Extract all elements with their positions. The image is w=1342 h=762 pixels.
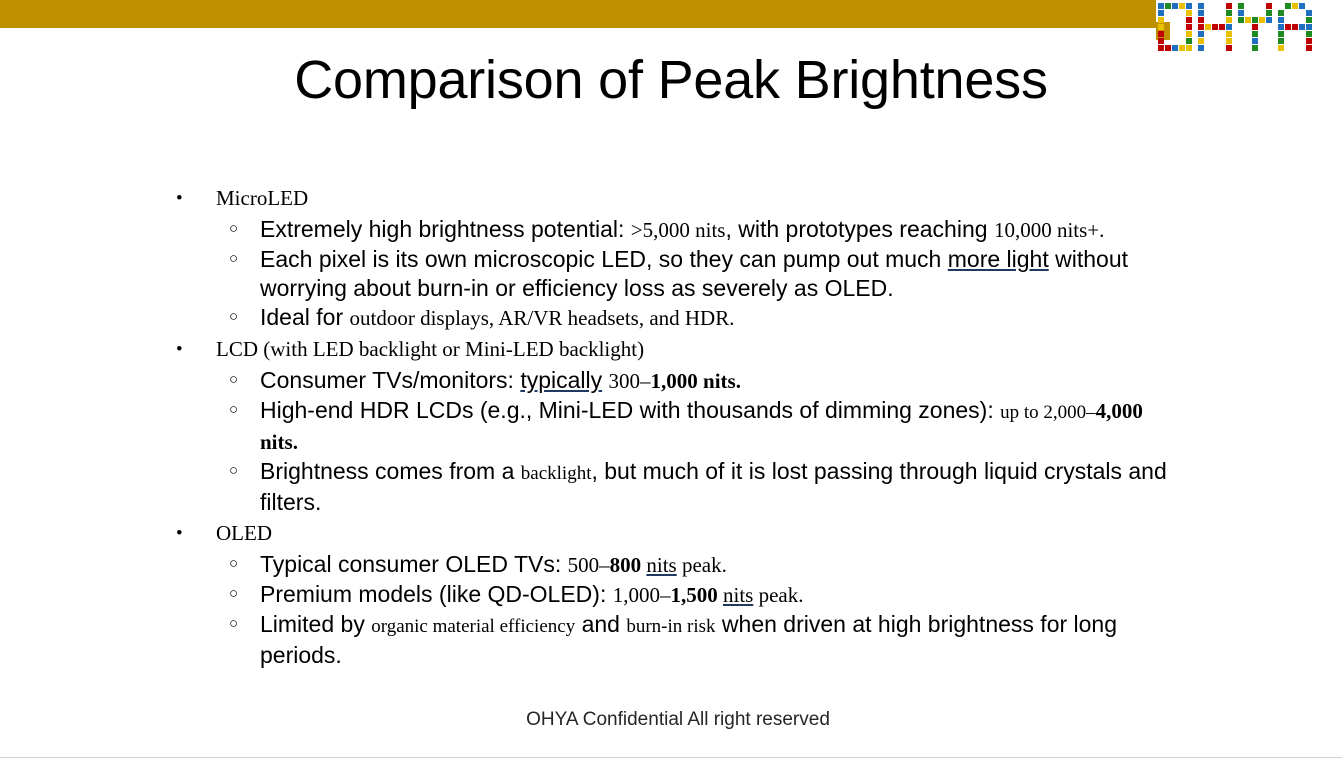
bullet-lcd-hdr-highend: ○High-end HDR LCDs (e.g., Mini-LED with …	[0, 396, 1342, 457]
text-run: LCD (with LED backlight or Mini-LED back…	[216, 337, 644, 361]
text-run: 500–	[568, 553, 610, 577]
bullet-text: Ideal for outdoor displays, AR/VR headse…	[260, 303, 1342, 333]
bullet-oled-limitations: ○Limited by organic material efficiency …	[0, 610, 1342, 670]
bullet-text: High-end HDR LCDs (e.g., Mini-LED with t…	[260, 396, 1342, 457]
ohya-logo	[1156, 1, 1342, 53]
text-run: .	[293, 430, 298, 454]
bullet-marker-circle-icon: ○	[229, 610, 238, 639]
bullet-oled-premium: ○Premium models (like QD-OLED): 1,000–1,…	[0, 580, 1342, 610]
text-run: Consumer TVs/monitors:	[260, 367, 520, 393]
text-run: OLED	[216, 521, 272, 545]
text-run: more light	[948, 246, 1049, 272]
bullet-marker-circle-icon: ○	[229, 396, 238, 425]
text-run: Ideal for	[260, 304, 350, 330]
text-run: up to 2,000–	[1000, 402, 1096, 423]
bullet-marker-circle-icon: ○	[229, 457, 238, 486]
text-run: peak.	[753, 583, 803, 607]
bullet-marker-circle-icon: ○	[229, 366, 238, 395]
bullet-text: OLED	[216, 521, 272, 545]
text-run: Brightness comes from a	[260, 458, 521, 484]
bullet-marker-circle-icon: ○	[229, 245, 238, 274]
bullet-marker-circle-icon: ○	[229, 215, 238, 244]
bullet-marker-disc-icon: •	[176, 182, 183, 215]
footer-text: OHYA Confidential All right reserved	[512, 709, 830, 730]
text-run: outdoor displays, AR/VR headsets, and HD…	[350, 306, 735, 330]
text-run: peak.	[677, 553, 727, 577]
text-run: 1,000–	[613, 583, 671, 607]
text-run: .	[736, 369, 741, 393]
text-run: burn-in risk	[626, 616, 715, 637]
text-run: Extremely high brightness potential:	[260, 216, 631, 242]
bullet-microled: •MicroLED	[0, 182, 1342, 215]
bullet-text: Limited by organic material efficiency a…	[260, 610, 1342, 670]
bullet-text: Typical consumer OLED TVs: 500–800 nits …	[260, 550, 1342, 580]
text-run: 300–	[609, 369, 651, 393]
bullet-marker-circle-icon: ○	[229, 580, 238, 609]
text-run: >5,000 nits	[631, 218, 726, 242]
bottom-divider	[0, 757, 1342, 758]
bullet-text: Brightness comes from a backlight, but m…	[260, 457, 1342, 517]
ohya-logo-svg	[1156, 1, 1342, 53]
bullet-text: LCD (with LED backlight or Mini-LED back…	[216, 337, 644, 361]
text-run: and	[575, 611, 626, 637]
text-run: organic material efficiency	[371, 616, 575, 637]
bullet-text: Each pixel is its own microscopic LED, s…	[260, 245, 1342, 303]
text-run: nits	[723, 583, 753, 607]
text-run: 10,000 nits+.	[994, 218, 1104, 242]
page-title: Comparison of Peak Brightness	[0, 48, 1342, 112]
text-run: Premium models (like QD-OLED):	[260, 581, 613, 607]
bullet-lcd: •LCD (with LED backlight or Mini-LED bac…	[0, 333, 1342, 366]
bullet-marker-circle-icon: ○	[229, 303, 238, 332]
text-run: nits	[646, 553, 676, 577]
slide-body: •MicroLED○Extremely high brightness pote…	[0, 182, 1342, 670]
bullet-lcd-consumer: ○Consumer TVs/monitors: typically 300–1,…	[0, 366, 1342, 396]
bullet-lcd-backlight-loss: ○Brightness comes from a backlight, but …	[0, 457, 1342, 517]
bullet-oled: •OLED	[0, 517, 1342, 550]
text-run: 1,500	[670, 583, 717, 607]
text-run: Limited by	[260, 611, 371, 637]
bullet-text: Consumer TVs/monitors: typically 300–1,0…	[260, 366, 1342, 396]
bullet-microled-brightness-potential: ○Extremely high brightness potential: >5…	[0, 215, 1342, 245]
bullet-microled-self-emissive: ○Each pixel is its own microscopic LED, …	[0, 245, 1342, 303]
bullet-marker-disc-icon: •	[176, 517, 183, 550]
bullet-marker-disc-icon: •	[176, 333, 183, 366]
text-run: , with prototypes reaching	[725, 216, 993, 242]
text-run: High-end HDR LCDs (e.g., Mini-LED with t…	[260, 397, 1000, 423]
bullet-text: MicroLED	[216, 186, 308, 210]
text-run: backlight	[521, 463, 592, 484]
header-band	[0, 0, 1156, 28]
text-run: Each pixel is its own microscopic LED, s…	[260, 246, 948, 272]
bullet-text: Premium models (like QD-OLED): 1,000–1,5…	[260, 580, 1342, 610]
text-run: MicroLED	[216, 186, 308, 210]
bullet-oled-typical: ○Typical consumer OLED TVs: 500–800 nits…	[0, 550, 1342, 580]
bullet-marker-circle-icon: ○	[229, 550, 238, 579]
text-run: Typical consumer OLED TVs:	[260, 551, 568, 577]
bullet-microled-ideal-use: ○Ideal for outdoor displays, AR/VR heads…	[0, 303, 1342, 333]
bullet-text: Extremely high brightness potential: >5,…	[260, 215, 1342, 245]
text-run: 800	[610, 553, 642, 577]
footer: OHYA Confidential All right reserved	[0, 708, 1342, 732]
text-run: typically	[520, 367, 602, 393]
text-run: 1,000 nits	[651, 369, 736, 393]
